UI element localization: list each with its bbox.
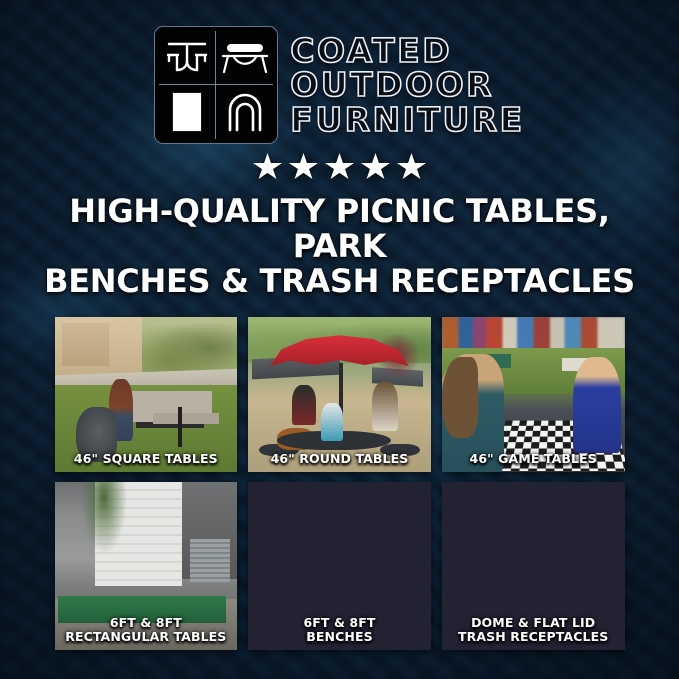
wordmark-line-3: FURNITURE [290,103,524,137]
product-caption-square-tables: 46" SQUARE TABLES [55,452,238,466]
product-caption-benches: 6FT & 8FT BENCHES [248,616,431,644]
product-photo-round-tables [248,317,431,472]
product-tile-round-tables[interactable]: 46" ROUND TABLES [248,317,431,472]
park-bench-icon [216,31,273,85]
brand-wordmark: COATED OUTDOOR FURNITURE [290,34,524,137]
product-tile-benches[interactable]: 6FT & 8FT BENCHES [248,482,431,650]
product-photo-square-tables [55,317,238,472]
bike-rack-icon [216,85,273,139]
banner-content: COATED OUTDOOR FURNITURE HIGH-QUALITY PI… [0,0,679,679]
product-tile-rectangular-tables[interactable]: 6FT & 8FT RECTANGULAR TABLES [55,482,238,650]
headline: HIGH-QUALITY PICNIC TABLES, PARK BENCHES… [30,194,650,299]
product-tile-game-tables[interactable]: 46" GAME TABLES [442,317,625,472]
star-icon-5 [397,153,426,181]
product-grid: 46" SQUARE TABLES 46" ROUND TABLES [55,317,625,650]
star-icon-1 [253,153,282,181]
star-icon-4 [361,153,390,181]
wordmark-line-1: COATED [290,34,524,68]
star-icon-2 [289,153,318,181]
headline-line-2: BENCHES & TRASH RECEPTACLES [30,264,650,299]
product-photo-game-tables [442,317,625,472]
trash-receptacle-icon [159,85,216,139]
brand-logo: COATED OUTDOOR FURNITURE [154,26,524,144]
product-tile-square-tables[interactable]: 46" SQUARE TABLES [55,317,238,472]
picnic-table-icon [159,31,216,85]
product-caption-game-tables: 46" GAME TABLES [442,452,625,466]
logo-icon-grid [154,26,278,144]
headline-line-1: HIGH-QUALITY PICNIC TABLES, PARK [30,194,650,264]
star-icon-3 [325,153,354,181]
wordmark-line-2: OUTDOOR [290,68,524,102]
five-star-rating [253,153,426,181]
product-caption-rectangular-tables: 6FT & 8FT RECTANGULAR TABLES [55,616,238,644]
product-tile-trash-receptacles[interactable]: DOME & FLAT LID TRASH RECEPTACLES [442,482,625,650]
product-caption-round-tables: 46" ROUND TABLES [248,452,431,466]
promotional-banner: COATED OUTDOOR FURNITURE HIGH-QUALITY PI… [0,0,679,679]
product-caption-trash-receptacles: DOME & FLAT LID TRASH RECEPTACLES [442,616,625,644]
